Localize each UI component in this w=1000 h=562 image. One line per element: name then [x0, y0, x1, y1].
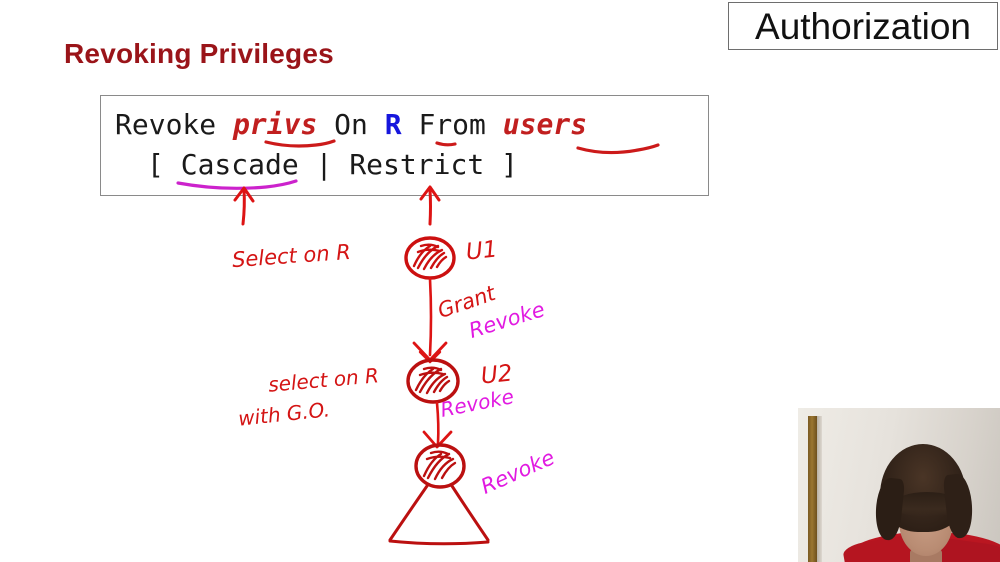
topic-label: Authorization: [755, 8, 971, 45]
syntax-line-2: [ Cascade | Restrict ]: [147, 151, 518, 179]
placeholder-users: users: [503, 108, 587, 141]
node-u1: [406, 238, 454, 278]
keyword-on: On: [334, 108, 368, 141]
label-with-grant-option: with G.O.: [237, 399, 331, 429]
option-restrict: Restrict: [349, 148, 484, 181]
topic-box: Authorization: [728, 2, 998, 50]
relation-name: R: [385, 108, 402, 141]
webcam-door-edge: [817, 416, 822, 562]
keyword-from: From: [418, 108, 485, 141]
slide-canvas: Authorization Revoking Privileges Revoke…: [0, 0, 1000, 562]
bracket-open: [: [147, 148, 164, 181]
syntax-line-1: Revoke privs On R From users: [115, 111, 587, 139]
option-separator: |: [316, 148, 333, 181]
placeholder-privs: privs: [233, 108, 317, 141]
webcam-door-frame: [808, 416, 817, 562]
webcam-video-inset: [798, 408, 1000, 562]
node-u3: [416, 445, 464, 487]
label-select-on-r-2: select on R: [267, 365, 379, 395]
option-cascade: Cascade: [181, 148, 299, 181]
subtree-triangle: [390, 486, 488, 544]
label-revoke-2: Revoke: [439, 386, 516, 420]
keyword-revoke: Revoke: [115, 108, 216, 141]
label-select-on-r: Select on R: [231, 242, 351, 271]
label-user-u1: U1: [465, 238, 499, 264]
page-title: Revoking Privileges: [64, 38, 334, 70]
bracket-close: ]: [501, 148, 518, 181]
label-revoke-3: Revoke: [478, 447, 558, 498]
syntax-box: Revoke privs On R From users [ Cascade |…: [100, 95, 709, 196]
